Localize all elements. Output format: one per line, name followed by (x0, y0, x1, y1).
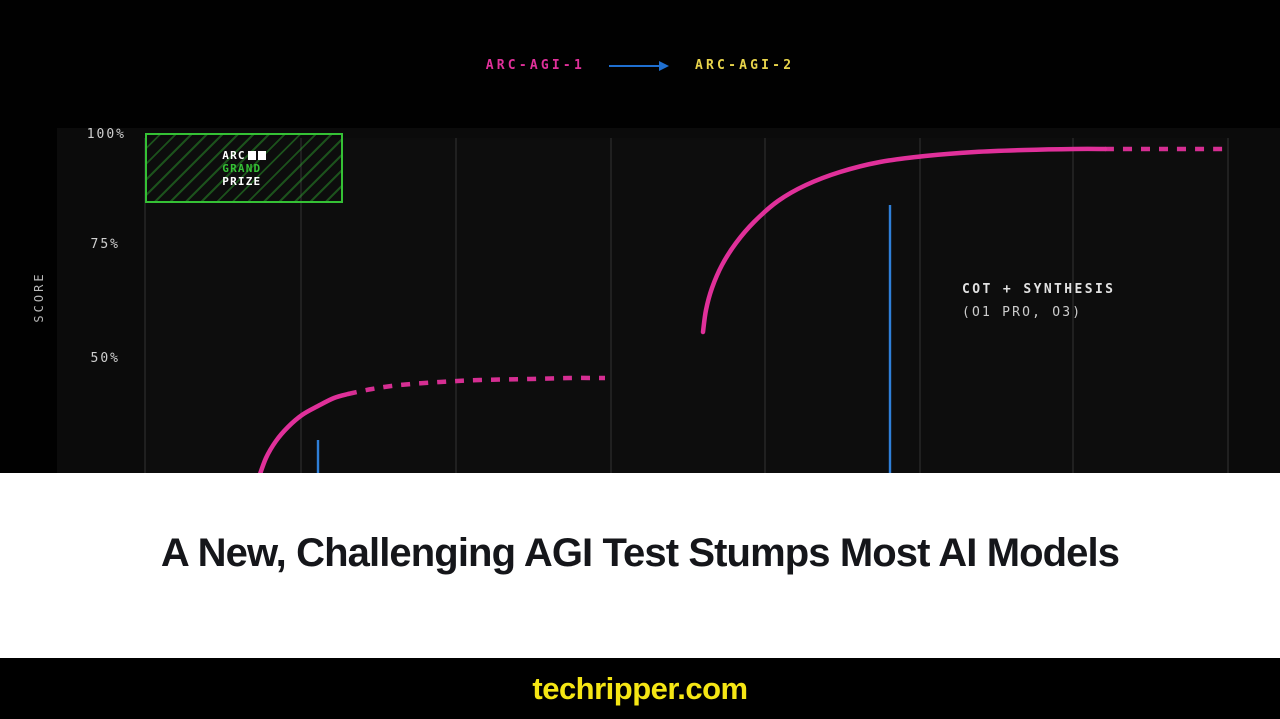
chart-markers (318, 205, 890, 473)
arc-grand-prize-badge: ARC GRAND PRIZE (145, 133, 343, 203)
gp-label-arc: ARC (222, 149, 245, 162)
annotation-subtitle: (O1 PRO, O3) (962, 305, 1115, 320)
annotation-title: COT + SYNTHESIS (962, 282, 1115, 297)
series-line-solid-0 (258, 394, 348, 473)
gp-label-grand: GRAND (222, 162, 265, 175)
gp-label-prize: PRIZE (222, 175, 265, 188)
article-card: ARC-AGI-1 ARC-AGI-2 100% 75% 50% SCORE (0, 0, 1280, 719)
gp-block-icon-2 (258, 151, 266, 160)
arc-grand-prize-text: ARC GRAND PRIZE (222, 149, 265, 188)
series-line-dashed-0 (348, 378, 605, 394)
page-title: A New, Challenging AGI Test Stumps Most … (153, 531, 1127, 576)
headline-band: A New, Challenging AGI Test Stumps Most … (0, 473, 1280, 658)
site-brand: techripper.com (532, 671, 747, 707)
gp-block-icon-1 (248, 151, 256, 160)
footer-band: techripper.com (0, 658, 1280, 719)
chart-panel: ARC-AGI-1 ARC-AGI-2 100% 75% 50% SCORE (0, 0, 1280, 473)
chart-annotation: COT + SYNTHESIS (O1 PRO, O3) (962, 282, 1115, 320)
plot-area (0, 0, 1280, 473)
